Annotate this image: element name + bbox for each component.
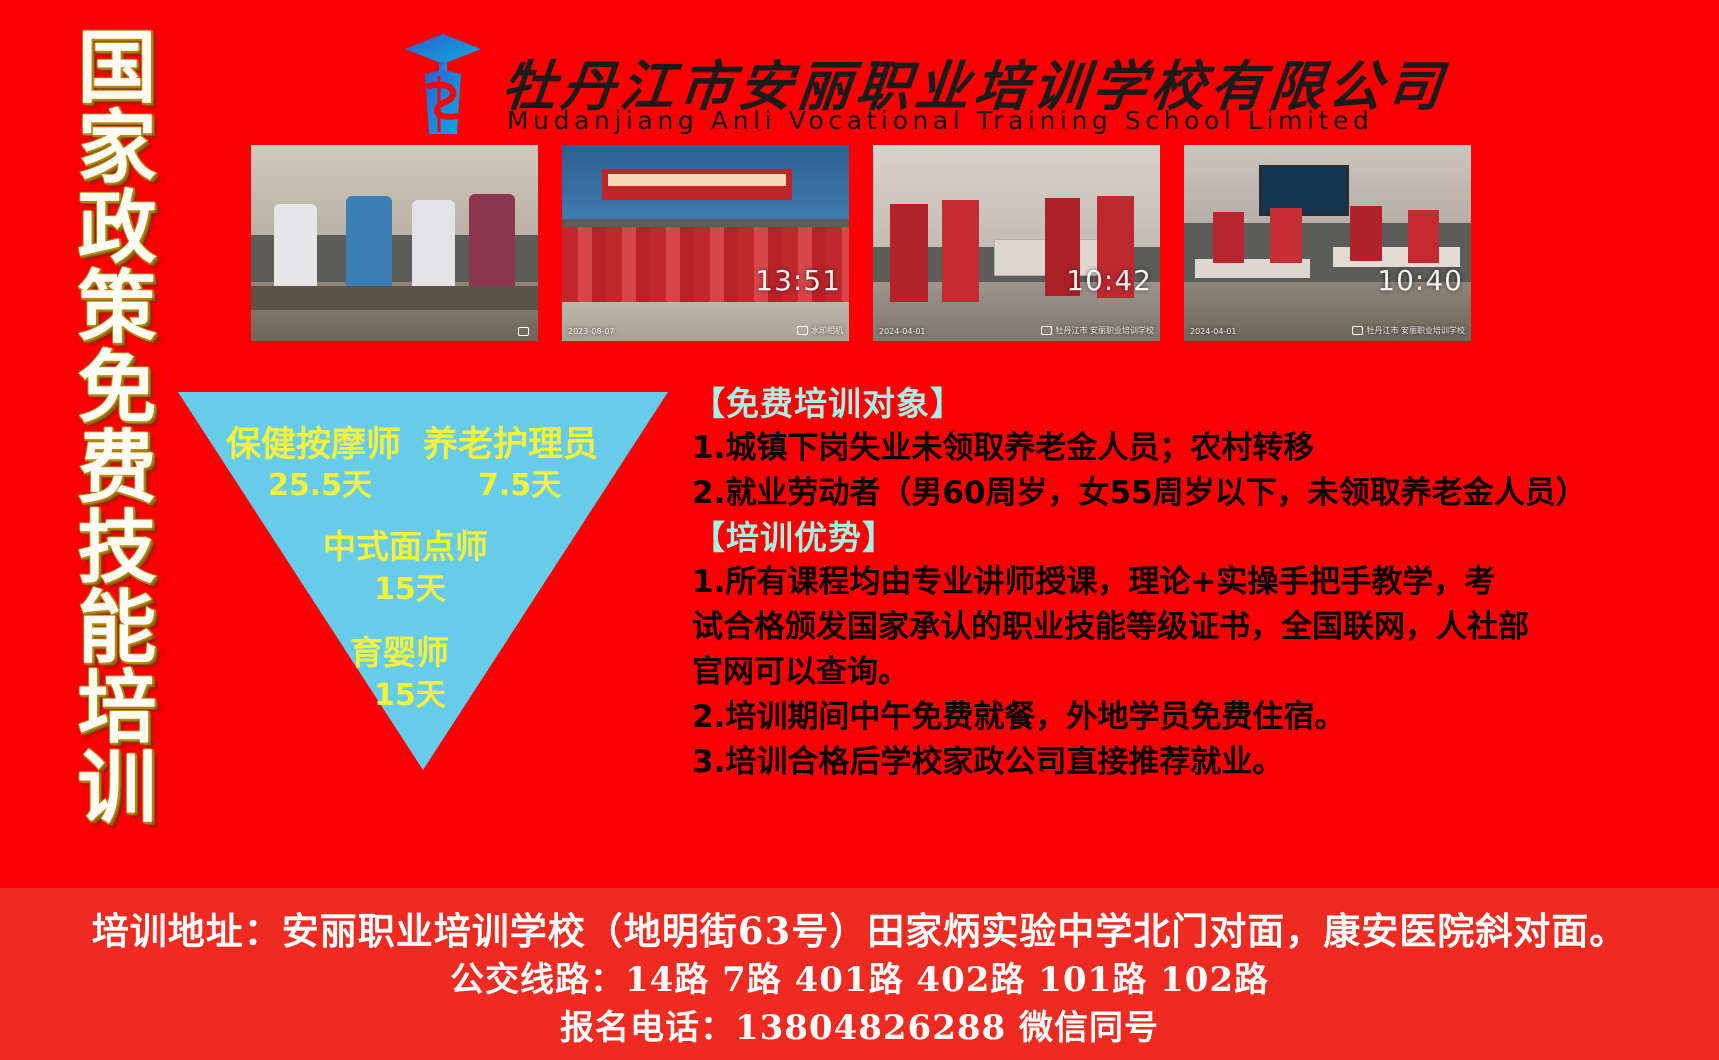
advantage-line: 试合格颁发国家承认的职业技能等级证书，全国联网，人社部 [692, 605, 1702, 650]
target-line: 2.就业劳动者（男60周岁，女55周岁以下，未领取养老金人员） [692, 471, 1702, 516]
course-duration: 7.5天 [478, 460, 561, 504]
photo-date: 2024-04-01 [1190, 327, 1237, 336]
vertical-headline-char: 免 [78, 348, 157, 428]
photo-figure [942, 200, 979, 302]
photo-meta: 2024-04-01 牡丹江市 安丽职业培训学校 [879, 325, 1154, 336]
advantage-line: 1.所有课程均由专业讲师授课，理论+实操手把手教学，考 [692, 560, 1702, 605]
photo-place: 牡丹江市 安丽职业培训学校 [1055, 325, 1154, 336]
course-name: 育婴师 [350, 626, 449, 674]
advantage-line: 官网可以查询。 [692, 650, 1702, 695]
photo-place: 水印相机 [811, 325, 843, 336]
info-column: 【免费培训对象】 1.城镇下岗失业未领取养老金人员；农村转移 2.就业劳动者（男… [692, 382, 1702, 785]
footer-phone: 报名电话：13804826288 微信同号 [0, 1004, 1719, 1052]
advantage-heading: 【培训优势】 [692, 516, 1702, 560]
vertical-headline-char: 培 [78, 668, 157, 748]
poster-header: 牡丹江市安丽职业培训学校有限公司 Mudanjiang Anli Vocatio… [395, 18, 1295, 138]
photo-timestamp: 10:40 [1377, 264, 1463, 297]
poster-root: 国 家 政 策 免 费 技 能 培 训 [0, 0, 1719, 1060]
photo-meta [257, 327, 532, 336]
company-name-en: Mudanjiang Anli Vocational Training Scho… [507, 106, 1374, 135]
course-name: 中式面点师 [323, 520, 488, 568]
photo-card[interactable]: 10:40 2024-04-01 牡丹江市 安丽职业培训学校 [1184, 145, 1471, 341]
photo-timestamp: 10:42 [1066, 264, 1152, 297]
photo-figure [1350, 206, 1382, 261]
photo-strip: 13:51 2023-08-07 水印相机 10:42 2024-04-01 牡… [251, 145, 1505, 341]
target-heading: 【免费培训对象】 [692, 382, 1702, 426]
photo-date: 2024-04-01 [879, 327, 926, 336]
photo-timestamp: 13:51 [755, 264, 841, 297]
course-duration: 25.5天 [268, 460, 372, 504]
photo-banner-text [608, 174, 786, 186]
advantage-line: 3.培训合格后学校家政公司直接推荐就业。 [692, 740, 1702, 785]
photo-card[interactable] [251, 145, 538, 341]
watermark-camera-icon: 牡丹江市 安丽职业培训学校 [1352, 325, 1465, 336]
photo-card[interactable]: 10:42 2024-04-01 牡丹江市 安丽职业培训学校 [873, 145, 1160, 341]
photo-meta: 2024-04-01 牡丹江市 安丽职业培训学校 [1190, 325, 1465, 336]
photo-figure [890, 204, 927, 302]
photo-meta: 2023-08-07 水印相机 [568, 325, 843, 336]
advantage-line: 2.培训期间中午免费就餐，外地学员免费住宿。 [692, 695, 1702, 740]
vertical-headline-char: 国 [78, 28, 157, 108]
vertical-headline-char: 费 [78, 428, 157, 508]
poster-footer: 培训地址：安丽职业培训学校（地明街63号）田家炳实验中学北门对面，康安医院斜对面… [0, 888, 1719, 1060]
photo-card[interactable]: 13:51 2023-08-07 水印相机 [562, 145, 849, 341]
photo-date: 2023-08-07 [568, 327, 615, 336]
footer-address: 培训地址：安丽职业培训学校（地明街63号）田家炳实验中学北门对面，康安医院斜对面… [0, 906, 1719, 956]
watermark-camera-icon [518, 327, 532, 336]
course-duration: 15天 [374, 670, 446, 714]
photo-figure [1213, 212, 1245, 263]
footer-bus-routes: 公交线路：14路 7路 401路 402路 101路 102路 [0, 956, 1719, 1004]
photo-table [251, 286, 538, 310]
target-line: 1.城镇下岗失业未领取养老金人员；农村转移 [692, 426, 1702, 471]
watermark-camera-icon: 牡丹江市 安丽职业培训学校 [1041, 325, 1154, 336]
course-triangle: 保健按摩师 养老护理员 25.5天 7.5天 中式面点师 15天 育婴师 15天 [178, 392, 668, 770]
vertical-headline-char: 家 [78, 108, 157, 188]
vertical-headline-char: 策 [78, 268, 157, 348]
photo-place: 牡丹江市 安丽职业培训学校 [1366, 325, 1465, 336]
graduation-cap-monogram-logo-icon [395, 32, 491, 136]
vertical-headline-char: 能 [78, 588, 157, 668]
course-duration: 15天 [374, 564, 446, 608]
vertical-headline: 国 家 政 策 免 费 技 能 培 训 [62, 28, 172, 758]
photo-figure [1408, 210, 1440, 263]
photo-figure [1270, 208, 1302, 263]
watermark-camera-icon: 水印相机 [797, 325, 843, 336]
vertical-headline-char: 训 [78, 748, 157, 828]
vertical-headline-char: 政 [78, 188, 157, 268]
vertical-headline-char: 技 [78, 508, 157, 588]
